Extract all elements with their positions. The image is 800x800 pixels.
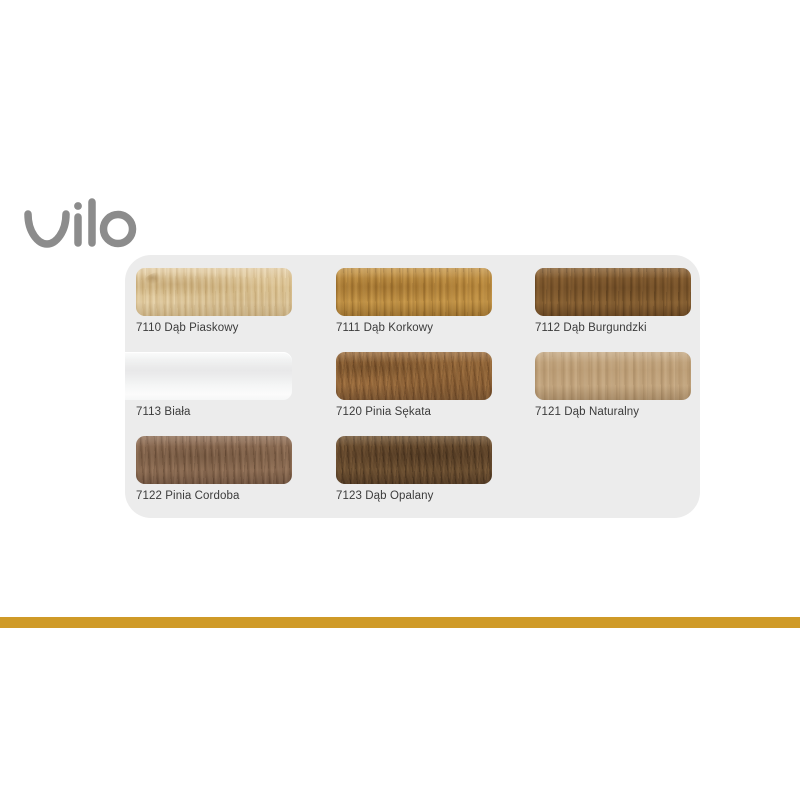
- swatch-chip-7122[interactable]: [136, 436, 292, 484]
- swatch-label-7110: 7110 Dąb Piaskowy: [136, 322, 239, 334]
- swatch-row: 7122 Pinia Cordoba 7123 Dąb Opalany: [136, 436, 700, 508]
- swatch-item-7110[interactable]: 7110 Dąb Piaskowy: [136, 268, 292, 316]
- swatch-chip-7120[interactable]: [336, 352, 492, 400]
- gloss-sheen-overlay: [336, 268, 492, 316]
- swatch-item-7113[interactable]: 7113 Biała: [136, 352, 292, 400]
- vilo-logo-mark: [24, 198, 174, 252]
- gloss-sheen-overlay: [535, 268, 691, 316]
- wood-grain-texture: [336, 436, 492, 484]
- gloss-sheen-overlay: [336, 352, 492, 400]
- vilo-logo-dot: [74, 202, 82, 210]
- gloss-sheen-overlay: [136, 436, 292, 484]
- swatch-grid: 7110 Dąb Piaskowy 7111 Dąb Korkowy 7112 …: [136, 268, 700, 508]
- swatch-chip-7110[interactable]: [136, 268, 292, 316]
- swatch-item-7120[interactable]: 7120 Pinia Sękata: [336, 352, 492, 400]
- swatch-item-7112[interactable]: 7112 Dąb Burgundzki: [535, 268, 691, 316]
- swatch-label-7121: 7121 Dąb Naturalny: [535, 406, 639, 418]
- wood-grain-texture: [136, 436, 292, 484]
- swatch-row: 7113 Biała 7120 Pinia Sękata 7121 Dąb Na…: [136, 352, 700, 436]
- swatch-chip-7123[interactable]: [336, 436, 492, 484]
- swatch-row: 7110 Dąb Piaskowy 7111 Dąb Korkowy 7112 …: [136, 268, 700, 352]
- wood-grain-texture: [336, 352, 492, 400]
- swatch-chip-7113[interactable]: [125, 352, 292, 400]
- swatch-label-7113: 7113 Biała: [136, 406, 191, 418]
- wood-knot-texture: [144, 271, 190, 293]
- swatch-label-7111: 7111 Dąb Korkowy: [336, 322, 433, 334]
- swatch-label-7122: 7122 Pinia Cordoba: [136, 490, 239, 502]
- swatch-chip-7111[interactable]: [336, 268, 492, 316]
- swatch-item-7111[interactable]: 7111 Dąb Korkowy: [336, 268, 492, 316]
- swatch-chip-7121[interactable]: [535, 352, 691, 400]
- gold-divider-bar: [0, 617, 800, 628]
- swatch-label-7120: 7120 Pinia Sękata: [336, 406, 431, 418]
- wood-grain-texture: [535, 352, 691, 400]
- swatch-item-7122[interactable]: 7122 Pinia Cordoba: [136, 436, 292, 484]
- wood-grain-texture: [336, 268, 492, 316]
- wood-grain-texture: [136, 268, 292, 316]
- swatch-label-7112: 7112 Dąb Burgundzki: [535, 322, 647, 334]
- surface-shading-overlay: [125, 352, 292, 400]
- swatch-label-7123: 7123 Dąb Opalany: [336, 490, 434, 502]
- gloss-sheen-overlay: [136, 268, 292, 316]
- vilo-logo-o: [104, 215, 133, 244]
- swatch-panel: 7110 Dąb Piaskowy 7111 Dąb Korkowy 7112 …: [125, 255, 700, 518]
- wood-grain-texture: [535, 268, 691, 316]
- vilo-logo: [24, 198, 174, 252]
- swatch-item-7123[interactable]: 7123 Dąb Opalany: [336, 436, 492, 484]
- gloss-sheen-overlay: [535, 352, 691, 400]
- swatch-item-7121[interactable]: 7121 Dąb Naturalny: [535, 352, 691, 400]
- swatch-chip-7112[interactable]: [535, 268, 691, 316]
- gloss-sheen-overlay: [336, 436, 492, 484]
